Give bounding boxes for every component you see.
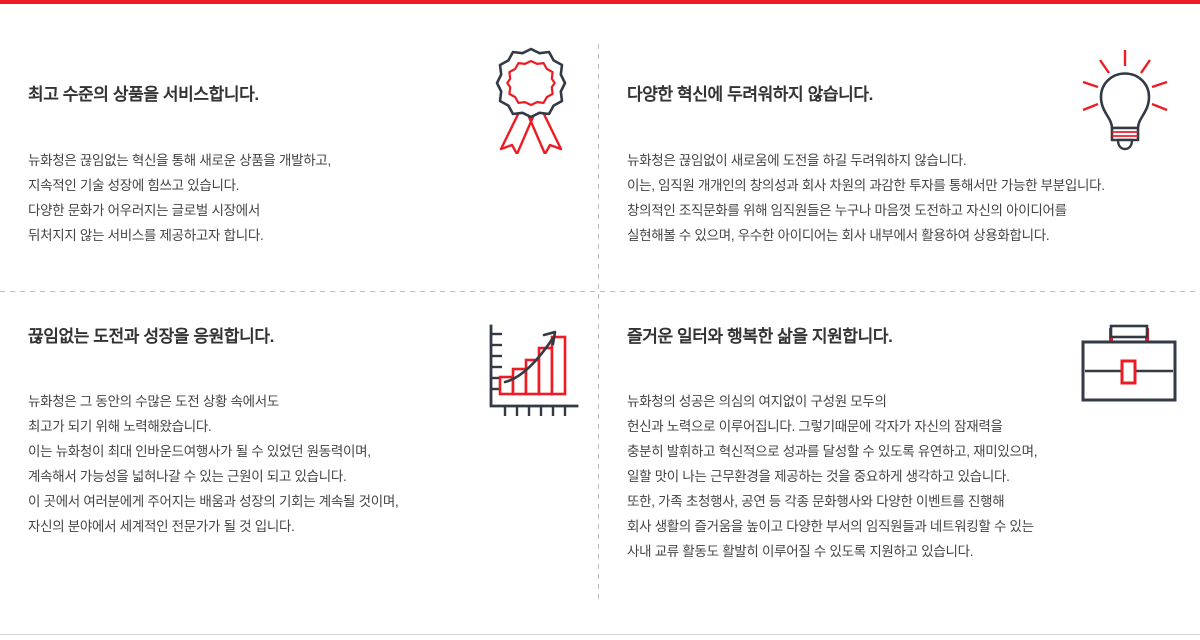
card-body-line: 이는 뉴화청이 최대 인바운드여행사가 될 수 있었던 원동력이며, [28,439,398,464]
card-title: 다양한 혁신에 두려워하지 않습니다. [627,80,873,105]
card-body: 뉴화청의 성공은 의심의 여지없이 구성원 모두의 헌신과 노력으로 이루어집니… [627,389,1037,564]
briefcase-icon [1075,322,1183,412]
card-body-line: 헌신과 노력으로 이루어집니다. 그렇기때문에 각자가 자신의 잠재력을 [627,414,1037,439]
card-body-line: 뒤처지지 않는 서비스를 제공하고자 합니다. [28,223,331,248]
growth-chart-icon [483,322,581,420]
lightbulb-icon [1069,44,1181,154]
card-title: 최고 수준의 상품을 서비스합니다. [28,80,259,105]
card-body-line: 사내 교류 활동도 활발히 이루어질 수 있도록 지원하고 있습니다. [627,539,1037,564]
card-body-line: 일할 맛이 나는 근무환경을 제공하는 것을 중요하게 생각하고 있습니다. [627,464,1037,489]
card-body-line: 충분히 발휘하고 혁신적으로 성과를 달성할 수 있도록 유연하고, 재미있으며… [627,439,1037,464]
card-body-line: 자신의 분야에서 세계적인 전문가가 될 것 입니다. [28,514,398,539]
card-body-line: 이 곳에서 여러분에게 주어지는 배움과 성장의 기회는 계속될 것이며, [28,489,398,514]
card-body-line: 지속적인 기술 성장에 힘쓰고 있습니다. [28,173,331,198]
value-card-top-right: 다양한 혁신에 두려워하지 않습니다. 뉴화청은 끊임없이 새로움에 도전을 하… [599,4,1200,291]
card-body: 뉴화청은 끊임없는 혁신을 통해 새로운 상품을 개발하고, 지속적인 기술 성… [28,148,331,248]
value-card-bottom-right: 즐거운 일터와 행복한 삶을 지원합니다. 뉴화청의 성공은 의심의 여지없이 … [599,292,1200,634]
card-body-line: 실현해볼 수 있으며, 우수한 아이디어는 회사 내부에서 활용하여 상용화합니… [627,223,1105,248]
card-body-line: 이는, 임직원 개개인의 창의성과 회사 차원의 과감한 투자를 통해서만 가능… [627,173,1105,198]
card-body-line: 뉴화청은 끊임없이 새로움에 도전을 하길 두려워하지 않습니다. [627,148,1105,173]
value-card-bottom-left: 끊임없는 도전과 성장을 응원합니다. 뉴화청은 그 동안의 수많은 도전 상황… [0,292,598,634]
award-ribbon-icon [485,44,577,154]
card-body-line: 회사 생활의 즐거움을 높이고 다양한 부서의 임직원들과 네트워킹할 수 있는 [627,514,1037,539]
card-body-line: 최고가 되기 위해 노력해왔습니다. [28,414,398,439]
card-body-line: 다양한 문화가 어우러지는 글로벌 시장에서 [28,198,331,223]
card-title: 끊임없는 도전과 성장을 응원합니다. [28,322,274,347]
card-body-line: 계속해서 가능성을 넓혀나갈 수 있는 근원이 되고 있습니다. [28,464,398,489]
card-body-line: 창의적인 조직문화를 위해 임직원들은 누구나 마음껏 도전하고 자신의 아이디… [627,198,1105,223]
values-grid-page: 최고 수준의 상품을 서비스합니다. 뉴화청은 끊임없는 혁신을 통해 새로운 … [0,0,1200,640]
card-body-line: 뉴화청은 그 동안의 수많은 도전 상황 속에서도 [28,389,398,414]
card-body-line: 뉴화청의 성공은 의심의 여지없이 구성원 모두의 [627,389,1037,414]
card-title: 즐거운 일터와 행복한 삶을 지원합니다. [627,322,892,347]
card-body: 뉴화청은 끊임없이 새로움에 도전을 하길 두려워하지 않습니다. 이는, 임직… [627,148,1105,248]
card-body: 뉴화청은 그 동안의 수많은 도전 상황 속에서도 최고가 되기 위해 노력해왔… [28,389,398,539]
card-body-line: 뉴화청은 끊임없는 혁신을 통해 새로운 상품을 개발하고, [28,148,331,173]
bottom-rule [0,634,1200,635]
value-card-top-left: 최고 수준의 상품을 서비스합니다. 뉴화청은 끊임없는 혁신을 통해 새로운 … [0,4,598,291]
card-body-line: 또한, 가족 초청행사, 공연 등 각종 문화행사와 다양한 이벤트를 진행해 [627,489,1037,514]
